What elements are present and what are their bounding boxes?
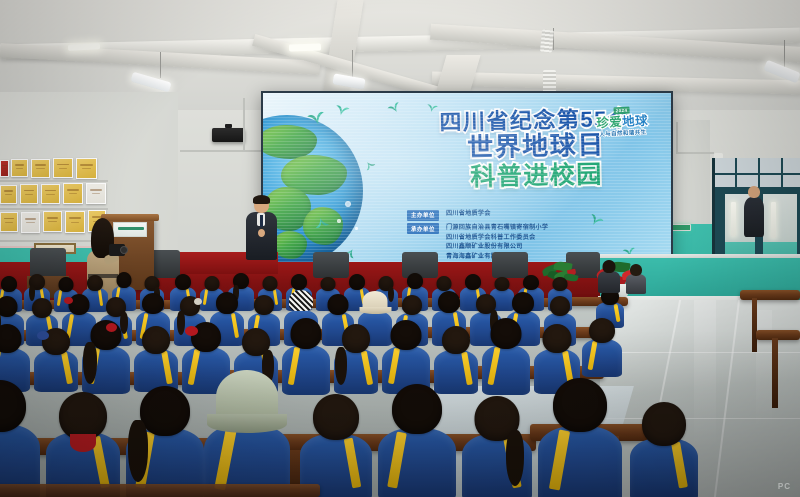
certificate-frame: [0, 160, 9, 177]
student: [538, 378, 622, 497]
certificate-frame: [21, 212, 40, 233]
student: [382, 320, 430, 390]
student: [462, 396, 532, 497]
certificate-frame: [86, 183, 106, 204]
floor-reflection: [756, 310, 772, 430]
pendant-rod: [352, 50, 353, 78]
organizer-values: 四川省地质学会: [446, 209, 491, 219]
organizer-tag: 主办单位: [407, 210, 439, 221]
student: [334, 324, 378, 390]
student: [82, 320, 130, 390]
side-desk: [756, 330, 800, 340]
student: [46, 392, 120, 497]
credit-row-organizer: 主办单位 四川省地质学会: [407, 209, 657, 221]
led-presentation-screen: 四川省纪念第55个 世界地球日 科普进校园 主办单位 四川省地质学会 承办单位 …: [261, 91, 673, 269]
conduit-pipe: [676, 122, 678, 154]
shelf-divider: [0, 180, 108, 182]
student: [630, 402, 698, 497]
bubble-decoration: [337, 219, 341, 223]
conduit-pipe: [676, 152, 714, 154]
certificate-frame: [11, 159, 28, 177]
presenter-hair: [253, 195, 270, 204]
pendant-rod: [160, 52, 161, 78]
certificate-frame: [76, 158, 97, 179]
certificate-frame: [65, 211, 85, 233]
desk-leg: [772, 338, 778, 408]
camera-lens-icon: [120, 246, 128, 254]
presenter-tie: [260, 215, 263, 227]
logo-main-left: 珍爱: [596, 115, 623, 130]
earth-day-logo: 2024 珍爱地球 人与自然和谐共生: [578, 97, 666, 140]
corridor-light: [771, 202, 776, 238]
student: [0, 380, 40, 497]
bench-row: [0, 484, 320, 497]
logo-main-right: 地球: [622, 114, 649, 129]
coorganizer-value: 四川鑫顺矿业股份有限公司: [446, 242, 548, 252]
certificate-frame: [41, 184, 60, 204]
shelf-divider: [0, 208, 108, 210]
logo-year-badge: 2024: [613, 107, 630, 114]
student: [582, 318, 622, 374]
photo-scene: 四川省纪念第55个 世界地球日 科普进校园 主办单位 四川省地质学会 承办单位 …: [0, 0, 800, 497]
student: [204, 372, 290, 497]
side-desk: [740, 290, 800, 300]
conduit-pipe: [243, 98, 245, 152]
certificate-frame: [31, 159, 50, 178]
wall-speaker: [212, 128, 245, 142]
title-line-3: 科普进校园: [405, 160, 667, 192]
bubble-decoration: [355, 227, 358, 230]
student: [134, 326, 178, 388]
exit-sign: [672, 224, 691, 231]
certificate-frame: [43, 211, 62, 232]
student: [434, 326, 478, 390]
student: [482, 318, 530, 390]
photo-watermark: PC: [775, 481, 794, 492]
adult-standing: [744, 186, 764, 236]
student: [0, 324, 30, 388]
bubble-decoration: [345, 201, 351, 207]
pendant-light: [540, 29, 554, 52]
student: [300, 394, 372, 497]
student: [34, 328, 78, 388]
corridor-light: [731, 202, 736, 236]
presenter: [243, 196, 279, 268]
certificate-frame: [0, 185, 17, 204]
presenter-hand: [258, 229, 265, 237]
organizer-value: 四川省地质学会: [446, 209, 491, 219]
student: [378, 384, 456, 497]
certificate-frame: [63, 183, 83, 204]
coorganizer-tag: 承办单位: [407, 223, 439, 234]
adult-attendee: [598, 260, 620, 292]
recessed-light: [289, 43, 321, 51]
certificate-frame: [53, 158, 73, 178]
coorganizer-value: 四川省地质学会科普工作委员会: [446, 233, 548, 243]
conduit-pipe: [180, 150, 262, 152]
globe-landmass: [261, 125, 317, 159]
coorganizer-value: 门源回族自治县青石嘴镇寄宿制小学: [446, 223, 548, 233]
desk-leg: [752, 298, 757, 352]
certificate-frame: [0, 212, 18, 232]
certificate-frame: [20, 184, 38, 204]
adult-attendee: [626, 264, 646, 292]
student: [126, 386, 204, 497]
